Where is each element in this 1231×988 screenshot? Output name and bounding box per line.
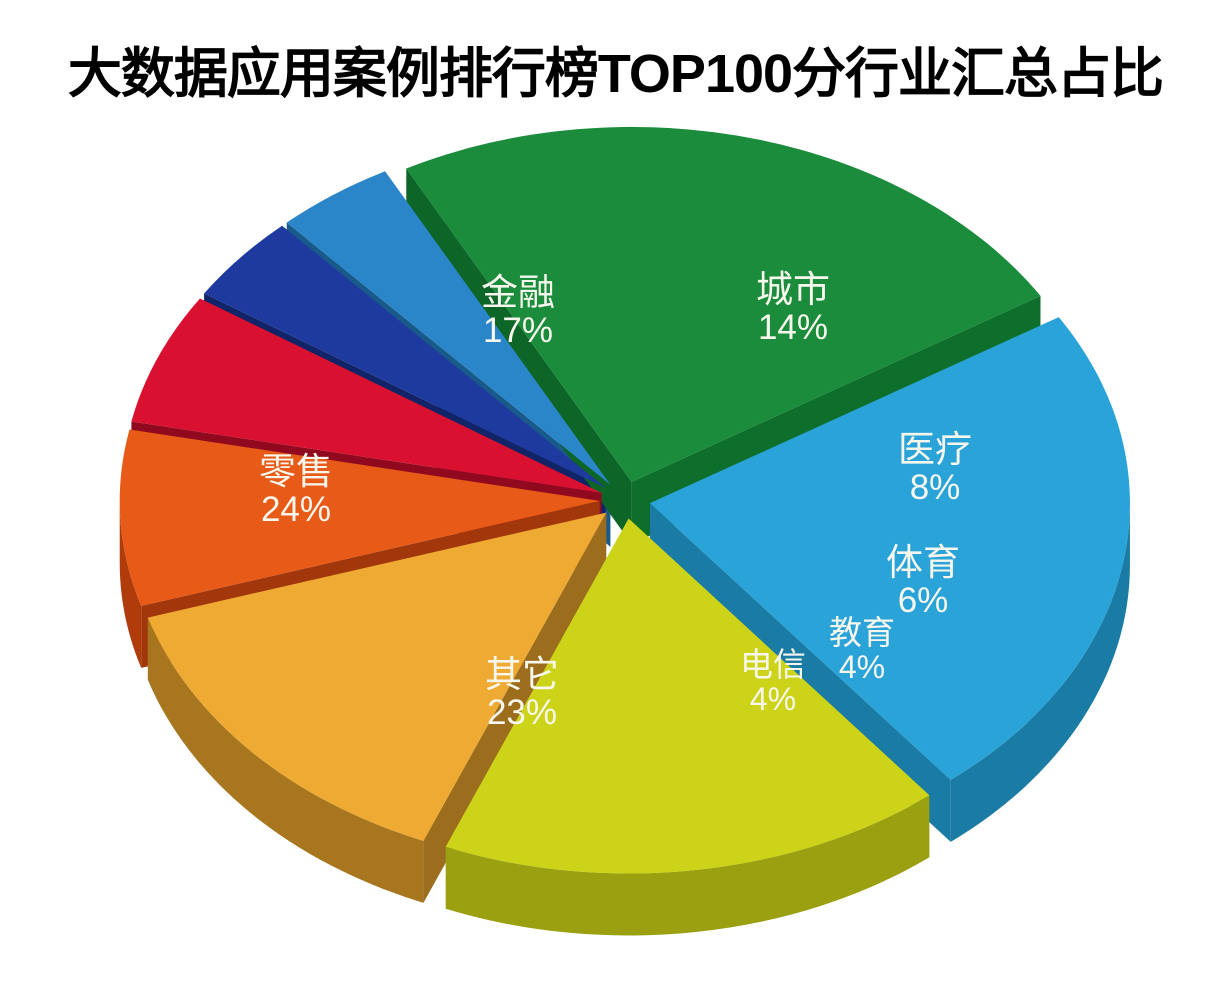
pie-chart-page: 大数据应用案例排行榜TOP100分行业汇总占比 零售 24% 其它 23% 金融… [0,0,1231,988]
pie-svg [0,0,1231,988]
pie-chart-figure: 零售 24% 其它 23% 金融 17% 城市 14% 医疗 8% 体育 6% … [0,0,1231,988]
